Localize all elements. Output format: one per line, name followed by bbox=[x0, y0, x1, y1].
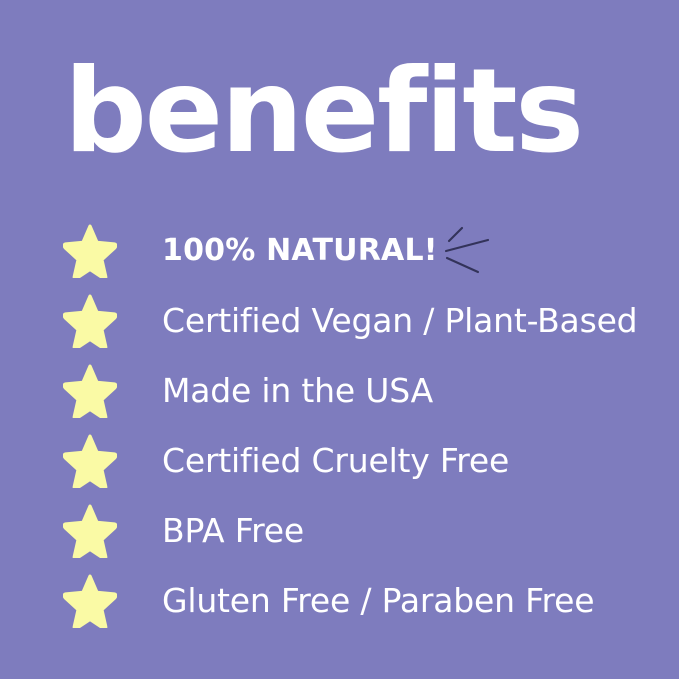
page-title: benefits bbox=[64, 52, 624, 172]
benefits-list: 100% NATURAL! Certified Vegan / Plant-Ba… bbox=[0, 216, 679, 636]
benefits-poster: benefits 100% NATURAL! bbox=[0, 0, 679, 679]
list-item-label: Certified Vegan / Plant-Based bbox=[162, 299, 637, 343]
list-item-label: BPA Free bbox=[162, 509, 304, 553]
list-item-label: Made in the USA bbox=[162, 369, 433, 413]
star-icon bbox=[62, 293, 118, 349]
star-icon bbox=[62, 573, 118, 629]
list-item: BPA Free bbox=[0, 496, 679, 566]
list-item: Certified Vegan / Plant-Based bbox=[0, 286, 679, 356]
star-icon bbox=[62, 363, 118, 419]
list-item-label: Certified Cruelty Free bbox=[162, 439, 509, 483]
list-item: Certified Cruelty Free bbox=[0, 426, 679, 496]
list-item: Gluten Free / Paraben Free bbox=[0, 566, 679, 636]
list-item: Made in the USA bbox=[0, 356, 679, 426]
star-icon bbox=[62, 223, 118, 279]
list-item-label: Gluten Free / Paraben Free bbox=[162, 579, 594, 623]
list-item: 100% NATURAL! bbox=[0, 216, 679, 286]
list-item-label: 100% NATURAL! bbox=[162, 229, 438, 273]
sparkle-icon bbox=[440, 225, 492, 277]
star-icon bbox=[62, 433, 118, 489]
star-icon bbox=[62, 503, 118, 559]
